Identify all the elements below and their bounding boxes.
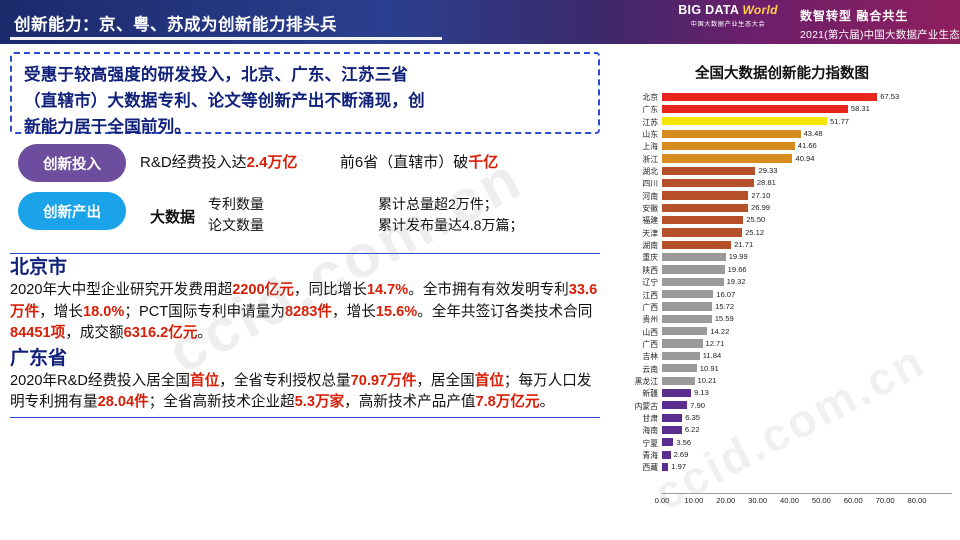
bar	[662, 204, 748, 212]
gd-t6: ；全省高新技术	[149, 394, 251, 410]
chart-bar-row: 福建25.50	[612, 214, 952, 226]
chart-bar-row: 内蒙古7.90	[612, 400, 952, 412]
chart-bar-row: 上海41.66	[612, 140, 952, 152]
chart-x-axis: 0.0010.0020.0030.0040.0050.0060.0070.008…	[662, 493, 952, 508]
bar-value-label: 29.33	[758, 166, 777, 175]
bar-value-label: 58.31	[851, 104, 870, 113]
bj-v1: 2200亿元	[232, 282, 294, 298]
bar-category-label: 内蒙古	[612, 401, 658, 412]
investment-text: R&D经费投入达2.4万亿 前6省（直辖市）破千亿	[140, 151, 498, 172]
bar-category-label: 广西	[612, 339, 658, 350]
x-axis-tick: 70.00	[876, 496, 895, 505]
bar	[662, 414, 682, 422]
chart-bar-row: 山东43.48	[612, 128, 952, 140]
bj-t3: 。	[408, 282, 423, 298]
bar-category-label: 吉林	[612, 351, 658, 362]
divider-bottom	[10, 417, 600, 418]
bar-value-label: 6.35	[685, 413, 700, 422]
bigdata-label: 大数据	[150, 206, 195, 227]
title-underline	[10, 37, 442, 40]
bj-v2: 14.7%	[367, 282, 408, 298]
bar-category-label: 浙江	[612, 154, 658, 165]
bar-value-label: 41.66	[798, 141, 817, 150]
bar	[662, 228, 742, 236]
gd-t9: 。	[540, 394, 555, 410]
bar-category-label: 陕西	[612, 265, 658, 276]
bar-category-label: 贵州	[612, 314, 658, 325]
bj-v7: 84451	[10, 325, 51, 341]
bar-value-label: 21.71	[734, 240, 753, 249]
bar	[662, 327, 707, 335]
bar-value-label: 2.69	[674, 450, 689, 459]
bj-v6: 15.6%	[376, 304, 417, 320]
chart-bar-row: 西藏1.97	[612, 461, 952, 473]
bar-category-label: 福建	[612, 215, 658, 226]
investment-value-a: 2.4万亿	[247, 154, 298, 171]
chart-bar-row: 江苏51.77	[612, 116, 952, 128]
bar	[662, 290, 713, 298]
bar-category-label: 新疆	[612, 388, 658, 399]
gd-t1: 2020年R&D经费投入居全国	[10, 373, 190, 389]
bj-t10: 项	[51, 325, 66, 341]
chart-bar-row: 广西15.72	[612, 301, 952, 313]
chart-bar-row: 广西12.71	[612, 338, 952, 350]
chart-bar-row: 安徽26.99	[612, 202, 952, 214]
bj-t5: ，增长	[39, 304, 83, 320]
bar-value-label: 15.72	[715, 302, 734, 311]
bar-category-label: 山东	[612, 129, 658, 140]
bar	[662, 401, 687, 409]
bar	[662, 451, 671, 459]
bar	[662, 265, 725, 273]
x-axis-tick: 80.00	[907, 496, 926, 505]
bar-category-label: 广东	[612, 104, 658, 115]
bar	[662, 278, 724, 286]
output-value-patents: 累计总量超2万件；	[378, 194, 523, 215]
gd-t3: ，	[416, 373, 431, 389]
bar-value-label: 7.90	[690, 401, 705, 410]
chart-panel: 全国大数据创新能力指数图 北京67.53广东58.31江苏51.77山东43.4…	[612, 52, 952, 530]
bar	[662, 105, 848, 113]
summary-callout: 受惠于较高强度的研发投入，北京、广东、江苏三省 （直辖市）大数据专利、论文等创新…	[10, 52, 600, 134]
bar	[662, 438, 673, 446]
chart-bar-row: 四川28.81	[612, 177, 952, 189]
bar-chart-plot: 北京67.53广东58.31江苏51.77山东43.48上海41.66浙江40.…	[612, 91, 952, 491]
bar-value-label: 14.22	[710, 327, 729, 336]
chart-bar-row: 新疆9.13	[612, 387, 952, 399]
chart-bar-row: 北京67.53	[612, 91, 952, 103]
bar-category-label: 广西	[612, 302, 658, 313]
bar	[662, 463, 668, 471]
bj-t12: 。	[197, 325, 212, 341]
bar-category-label: 四川	[612, 178, 658, 189]
bar-category-label: 甘肃	[612, 413, 658, 424]
bar	[662, 377, 695, 385]
divider-top	[10, 253, 600, 254]
beijing-title: 北京市	[10, 256, 600, 280]
guangdong-title: 广东省	[10, 347, 600, 371]
bar-category-label: 山西	[612, 327, 658, 338]
output-metric-values: 累计总量超2万件； 累计发布量达4.8万篇；	[378, 194, 523, 236]
bar-category-label: 海南	[612, 425, 658, 436]
bj-v8: 6316.2亿元	[124, 325, 198, 341]
x-axis-tick: 20.00	[716, 496, 735, 505]
chart-bar-row: 浙江40.94	[612, 153, 952, 165]
bar-category-label: 黑龙江	[612, 376, 658, 387]
guangdong-body: 2020年R&D经费投入居全国首位，全省专利授权总量70.97万件，居全国首位；…	[10, 371, 600, 414]
bar	[662, 302, 712, 310]
bar-category-label: 江西	[612, 290, 658, 301]
bar-category-label: 西藏	[612, 462, 658, 473]
bar-value-label: 19.99	[729, 252, 748, 261]
bar	[662, 315, 712, 323]
bj-t8: ，增长	[332, 304, 376, 320]
slide-root: 创新能力：京、粤、苏成为创新能力排头兵 BIG DATA World 中国大数据…	[0, 0, 960, 540]
bj-t7: 请量为	[241, 304, 285, 320]
callout-line-2: （直辖市）大数据专利、论文等创新产出不断涌现，创	[24, 88, 588, 114]
gd-t8: ，高新技术产品产值	[344, 394, 475, 410]
chart-bar-row: 吉林11.84	[612, 350, 952, 362]
bar-value-label: 16.07	[716, 290, 735, 299]
chart-bar-row: 宁夏3.56	[612, 437, 952, 449]
gd-v1: 首位	[190, 373, 219, 389]
beijing-body: 2020年大中型企业研究开发费用超2200亿元，同比增长14.7%。全市拥有有效…	[10, 280, 600, 345]
bar-category-label: 河南	[612, 191, 658, 202]
left-content-panel: 受惠于较高强度的研发投入，北京、广东、江苏三省 （直辖市）大数据专利、论文等创新…	[10, 52, 600, 530]
innovation-investment-row: 创新投入 R&D经费投入达2.4万亿 前6省（直辖市）破千亿	[10, 142, 600, 188]
investment-text-c: （直辖市）破	[378, 154, 468, 171]
bar	[662, 93, 877, 101]
bar-category-label: 云南	[612, 364, 658, 375]
chart-bar-row: 甘肃6.35	[612, 412, 952, 424]
chart-title: 全国大数据创新能力指数图	[612, 62, 952, 83]
slide-header: 创新能力：京、粤、苏成为创新能力排头兵 BIG DATA World 中国大数据…	[0, 0, 960, 44]
bar-value-label: 19.66	[728, 265, 747, 274]
output-metric-names: 专利数量 论文数量	[208, 194, 264, 236]
bar-category-label: 宁夏	[612, 438, 658, 449]
bar-category-label: 北京	[612, 92, 658, 103]
chart-bar-row: 山西14.22	[612, 326, 952, 338]
bar	[662, 352, 700, 360]
bar-value-label: 43.48	[804, 129, 823, 138]
bar-category-label: 江苏	[612, 117, 658, 128]
chart-bar-row: 陕西19.66	[612, 264, 952, 276]
investment-text-a: R&D经费投入达	[140, 154, 247, 171]
bj-v5: 8283件	[285, 304, 332, 320]
gd-t4: 居全国	[431, 373, 475, 389]
x-axis-tick: 50.00	[812, 496, 831, 505]
chart-bar-row: 天津25.12	[612, 227, 952, 239]
output-metric-patents: 专利数量	[208, 194, 264, 215]
bar-value-label: 25.50	[746, 215, 765, 224]
bar-value-label: 40.94	[795, 154, 814, 163]
bar-value-label: 3.56	[676, 438, 691, 447]
chart-bar-row: 青海2.69	[612, 449, 952, 461]
x-axis-tick: 60.00	[844, 496, 863, 505]
bj-v4: 18.0%	[83, 304, 124, 320]
logo-sub-text: 中国大数据产业生态大会	[672, 19, 784, 28]
bj-t6: ；PCT国际专利申	[124, 304, 241, 320]
bar	[662, 179, 754, 187]
bar-category-label: 辽宁	[612, 277, 658, 288]
bar-category-label: 重庆	[612, 252, 658, 263]
bar-value-label: 10.91	[700, 364, 719, 373]
bar	[662, 389, 691, 397]
output-value-papers: 累计发布量达4.8万篇；	[378, 215, 523, 236]
bar-category-label: 上海	[612, 141, 658, 152]
bar-category-label: 天津	[612, 228, 658, 239]
chart-bar-row: 海南6.22	[612, 424, 952, 436]
slogan-line-2: 2021(第六届)中国大数据产业生态大会	[800, 27, 960, 44]
bar-value-label: 11.84	[703, 351, 721, 360]
bar	[662, 339, 703, 347]
bj-t4: 全市拥有有效发明专利	[423, 282, 569, 298]
bar-category-label: 青海	[612, 450, 658, 461]
innovation-output-row: 创新产出 大数据 专利数量 论文数量 累计总量超2万件； 累计发布量达4.8万篇…	[10, 190, 600, 250]
tag-innovation-investment: 创新投入	[18, 144, 126, 182]
logo-main-text: BIG DATA	[678, 3, 739, 17]
x-axis-tick: 30.00	[748, 496, 767, 505]
bar-value-label: 19.32	[727, 277, 746, 286]
bar-value-label: 12.71	[706, 339, 725, 348]
bar	[662, 191, 748, 199]
bar-value-label: 10.21	[698, 376, 717, 385]
chart-bar-row: 江西16.07	[612, 289, 952, 301]
chart-bar-row: 河南27.10	[612, 190, 952, 202]
chart-bar-row: 广东58.31	[612, 103, 952, 115]
gd-v2: 70.97万件	[351, 373, 417, 389]
logo-world-text: World	[743, 3, 778, 17]
bar	[662, 154, 792, 162]
bar-value-label: 26.99	[751, 203, 770, 212]
guangdong-block: 广东省 2020年R&D经费投入居全国首位，全省专利授权总量70.97万件，居全…	[10, 347, 600, 414]
bar-category-label: 湖北	[612, 166, 658, 177]
bar-value-label: 15.59	[715, 314, 734, 323]
bar	[662, 142, 795, 150]
bj-t1: 2020年大中型企业研究开发费用超	[10, 282, 232, 298]
bar-value-label: 25.12	[745, 228, 764, 237]
bar	[662, 241, 731, 249]
tag-innovation-output: 创新产出	[18, 192, 126, 230]
investment-text-b: 前6省	[340, 154, 378, 171]
gd-v4: 28.04件	[98, 394, 149, 410]
chart-bar-row: 湖南21.71	[612, 239, 952, 251]
gd-v5: 5.3万家	[295, 394, 344, 410]
callout-line-1: 受惠于较高强度的研发投入，北京、广东、江苏三省	[24, 62, 588, 88]
event-slogan: 数智转型 融合共生 2021(第六届)中国大数据产业生态大会	[800, 7, 960, 44]
bj-t9: 。全年共签订各类技术合同	[417, 304, 592, 320]
page-title: 创新能力：京、粤、苏成为创新能力排头兵	[14, 11, 337, 35]
bar-value-label: 67.53	[880, 92, 899, 101]
bar	[662, 364, 697, 372]
bar-value-label: 6.22	[685, 425, 700, 434]
bar-category-label: 湖南	[612, 240, 658, 251]
bar-value-label: 27.10	[751, 191, 770, 200]
beijing-block: 北京市 2020年大中型企业研究开发费用超2200亿元，同比增长14.7%。全市…	[10, 256, 600, 345]
gd-t2: ，全省专利授权总量	[219, 373, 350, 389]
bar	[662, 253, 726, 261]
bar-value-label: 28.81	[757, 178, 776, 187]
bar	[662, 216, 743, 224]
x-axis-tick: 10.00	[684, 496, 703, 505]
event-logo: BIG DATA World 中国大数据产业生态大会	[672, 4, 784, 40]
chart-bar-row: 贵州15.59	[612, 313, 952, 325]
bar	[662, 167, 755, 175]
x-axis-tick: 0.00	[655, 496, 670, 505]
bj-t11: ，成交额	[65, 325, 123, 341]
slogan-line-1: 数智转型 融合共生	[800, 7, 960, 24]
gd-v6: 7.8万亿元	[476, 394, 540, 410]
x-axis-tick: 40.00	[780, 496, 799, 505]
bar	[662, 130, 801, 138]
chart-bar-row: 湖北29.33	[612, 165, 952, 177]
bar-value-label: 9.13	[694, 388, 709, 397]
gd-t7: 企业超	[251, 394, 295, 410]
callout-line-3: 新能力居于全国前列。	[24, 114, 588, 140]
bar-category-label: 安徽	[612, 203, 658, 214]
chart-bar-row: 重庆19.99	[612, 251, 952, 263]
investment-value-b: 千亿	[468, 154, 498, 171]
chart-bar-row: 辽宁19.32	[612, 276, 952, 288]
bar-value-label: 51.77	[830, 117, 849, 126]
chart-bar-row: 黑龙江10.21	[612, 375, 952, 387]
bar-value-label: 1.97	[671, 462, 686, 471]
bj-t2: ，同比增长	[294, 282, 367, 298]
gd-v3: 首位	[475, 373, 504, 389]
bar	[662, 117, 827, 125]
output-metric-papers: 论文数量	[208, 215, 264, 236]
chart-bar-row: 云南10.91	[612, 363, 952, 375]
bar	[662, 426, 682, 434]
